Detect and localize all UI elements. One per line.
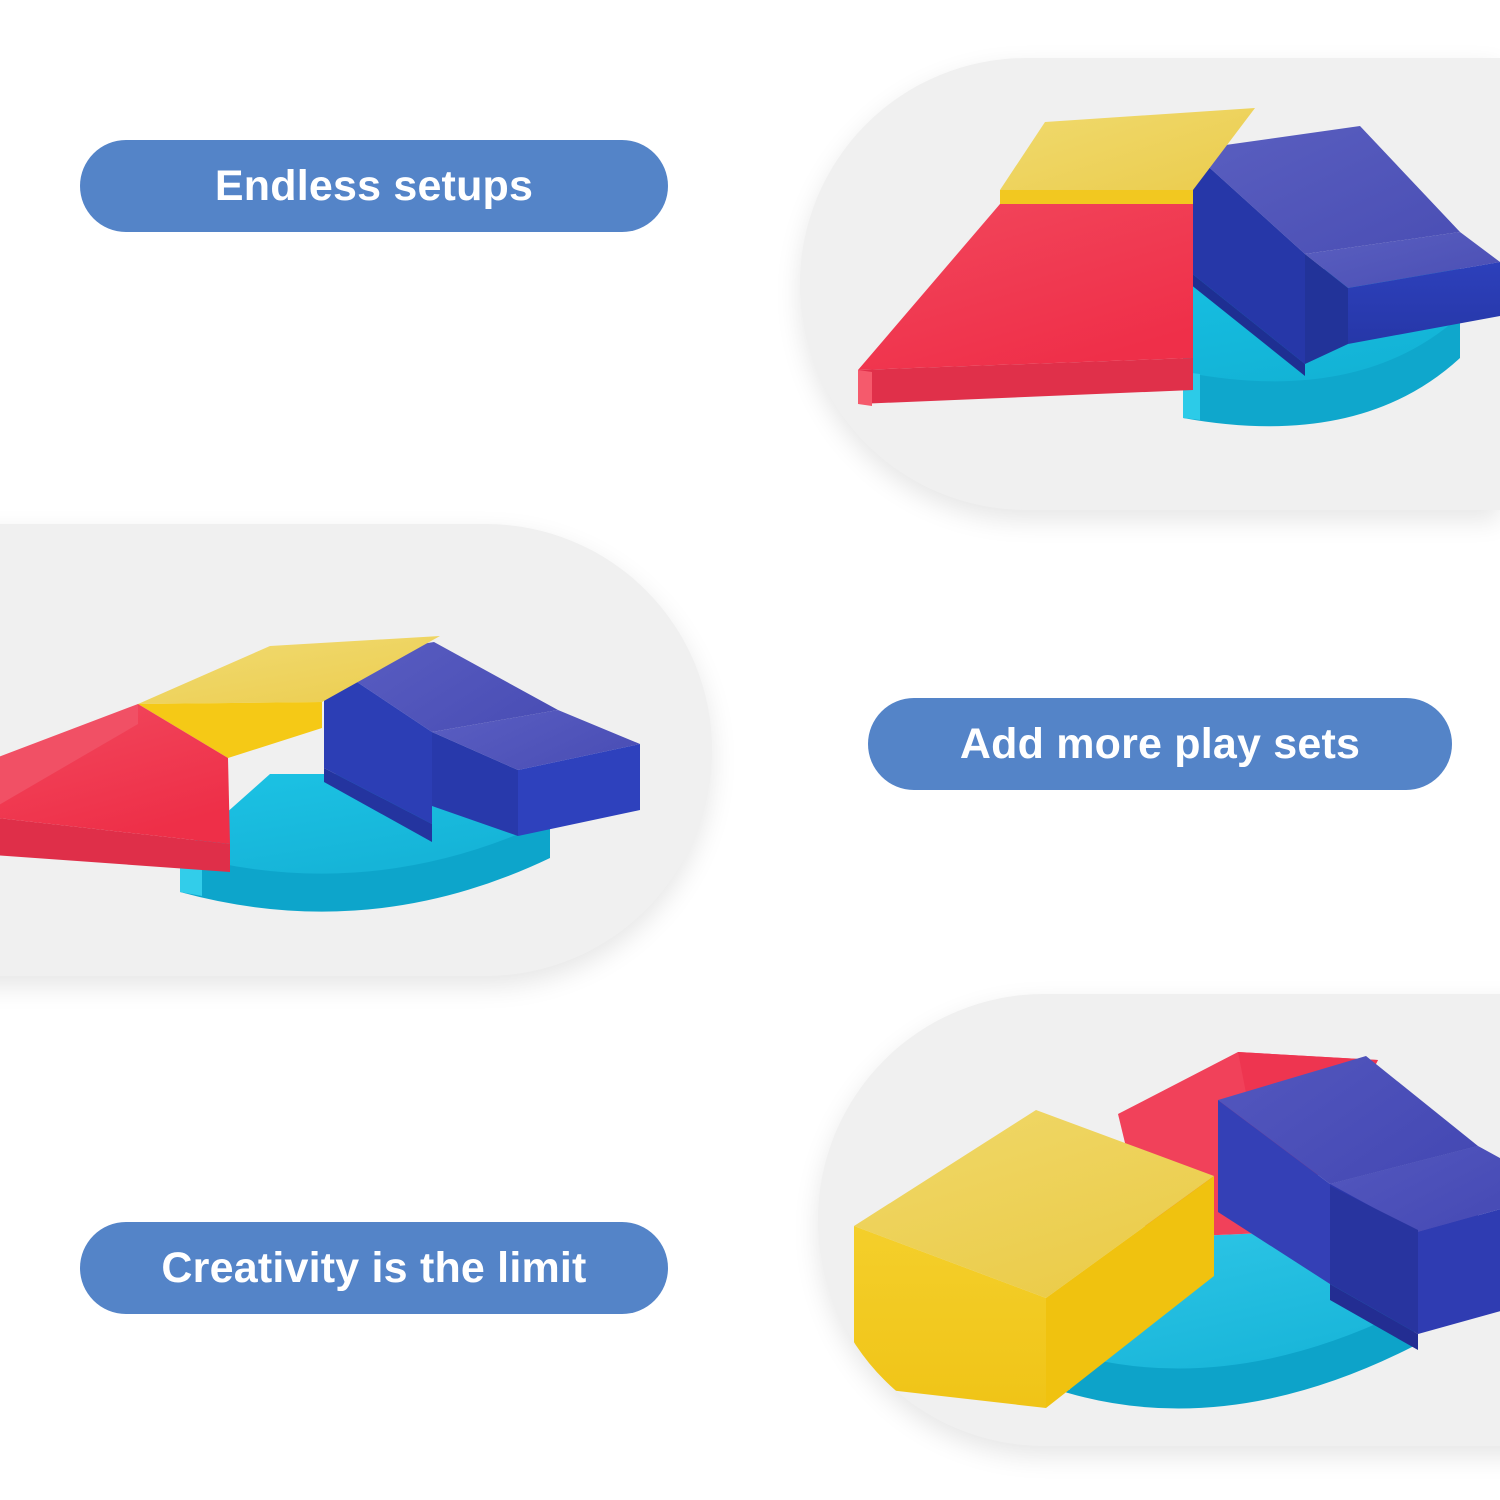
- label-pill-endless-setups[interactable]: Endless setups: [80, 140, 668, 232]
- label-pill-creativity-is-the-limit-text: Creativity is the limit: [161, 1244, 586, 1293]
- product-photo-panel-middle-left: [0, 524, 712, 976]
- label-pill-add-more-play-sets-text: Add more play sets: [960, 720, 1360, 769]
- product-photo-panel-bottom-right: [818, 994, 1500, 1446]
- foam-playset-illustration-top-right: [800, 58, 1500, 510]
- label-pill-creativity-is-the-limit[interactable]: Creativity is the limit: [80, 1222, 668, 1314]
- foam-playset-illustration-bottom-right: [818, 994, 1500, 1446]
- product-photo-panel-top-right: [800, 58, 1500, 510]
- infographic-canvas: Endless setups Add more play sets Creati…: [0, 0, 1500, 1500]
- foam-playset-illustration-middle-left: [0, 524, 712, 976]
- label-pill-endless-setups-text: Endless setups: [215, 162, 533, 211]
- label-pill-add-more-play-sets[interactable]: Add more play sets: [868, 698, 1452, 790]
